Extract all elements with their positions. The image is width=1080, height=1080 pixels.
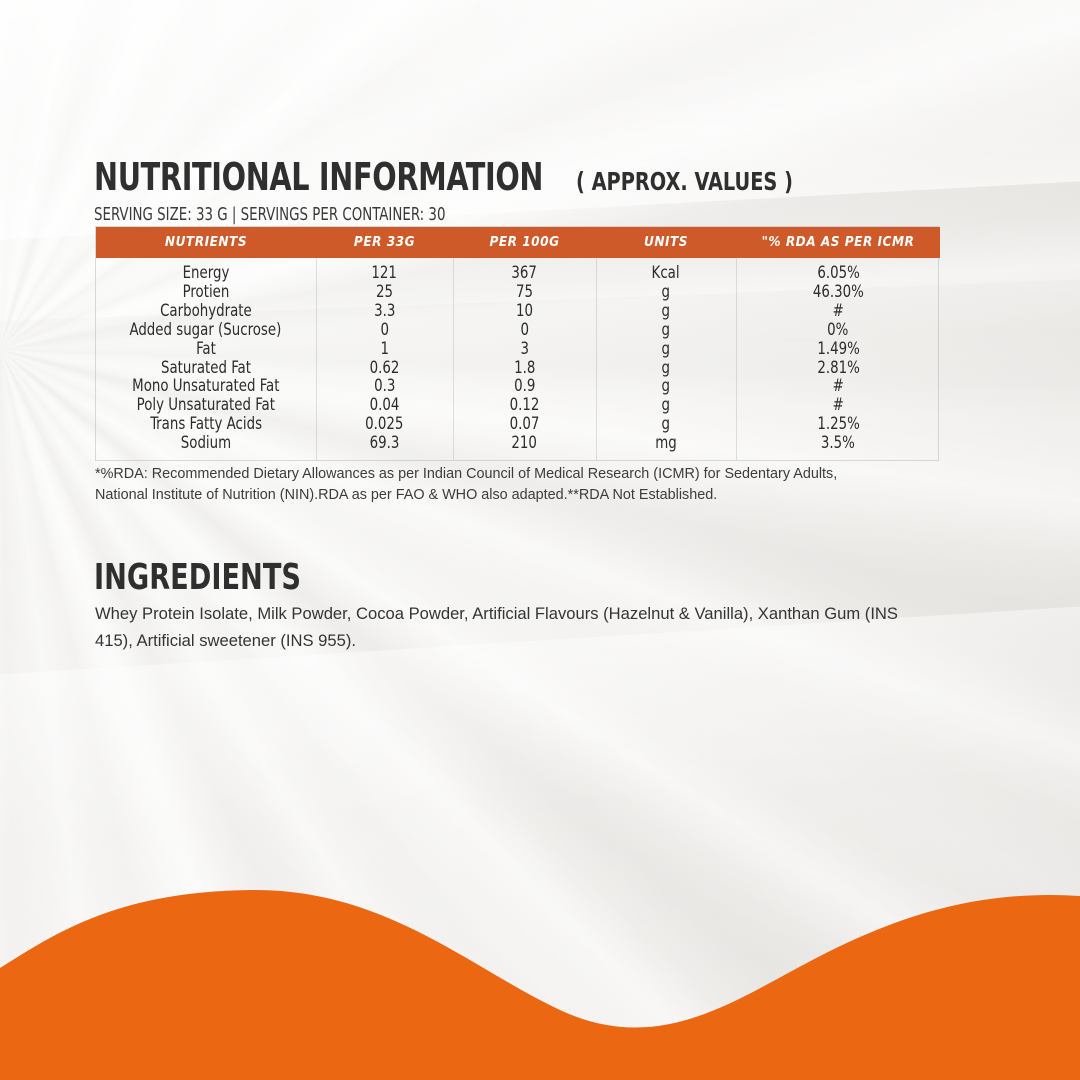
- cell-per-33g: 0.04: [316, 396, 453, 415]
- table-row: Fat13g1.49%: [96, 340, 940, 359]
- table-row: Poly Unsaturated Fat0.040.12g#: [96, 396, 940, 415]
- cell-nutrient: Sodium: [96, 434, 316, 460]
- table-row: Energy121367Kcal6.05%: [96, 258, 940, 283]
- cell-per-33g: 1: [316, 340, 453, 359]
- nutrition-table-container: NUTRIENTS PER 33G PER 100G UNITS "% RDA …: [95, 226, 939, 461]
- cell-rda: 0%: [736, 321, 940, 340]
- cell-units: g: [596, 302, 736, 321]
- cell-rda: #: [736, 377, 940, 396]
- table-header-row: NUTRIENTS PER 33G PER 100G UNITS "% RDA …: [96, 227, 940, 258]
- cell-per-100g: 0.07: [453, 415, 596, 434]
- cell-units: g: [596, 340, 736, 359]
- rda-footnote-line-2: National Institute of Nutrition (NIN).RD…: [95, 485, 935, 506]
- serving-size-line: SERVING SIZE: 33 G | SERVINGS PER CONTAI…: [94, 205, 859, 225]
- rda-footnote: *%RDA: Recommended Dietary Allowances as…: [95, 464, 935, 506]
- table-row: Mono Unsaturated Fat0.30.9g#: [96, 377, 940, 396]
- nutrition-title-row: NUTRITIONAL INFORMATION ( APPROX. VALUES…: [94, 158, 994, 196]
- cell-nutrient: Carbohydrate: [96, 302, 316, 321]
- nutrition-label-page: NUTRITIONAL INFORMATION ( APPROX. VALUES…: [0, 0, 1080, 1080]
- table-row: Added sugar (Sucrose)00g0%: [96, 321, 940, 340]
- cell-rda: 1.25%: [736, 415, 940, 434]
- column-header-units: UNITS: [596, 227, 736, 258]
- nutrition-table-body: Energy121367Kcal6.05%Protien2575g46.30%C…: [96, 258, 940, 460]
- cell-nutrient: Added sugar (Sucrose): [96, 321, 316, 340]
- column-header-per-100g: PER 100G: [453, 227, 596, 258]
- column-header-nutrients: NUTRIENTS: [96, 227, 316, 258]
- cell-nutrient: Saturated Fat: [96, 359, 316, 378]
- cell-per-100g: 1.8: [453, 359, 596, 378]
- ingredients-text: Whey Protein Isolate, Milk Powder, Cocoa…: [95, 600, 910, 654]
- cell-per-33g: 0.62: [316, 359, 453, 378]
- cell-per-33g: 0.3: [316, 377, 453, 396]
- cell-rda: 3.5%: [736, 434, 940, 460]
- cell-units: g: [596, 359, 736, 378]
- cell-units: g: [596, 396, 736, 415]
- table-row: Protien2575g46.30%: [96, 283, 940, 302]
- cell-per-33g: 69.3: [316, 434, 453, 460]
- cell-per-100g: 3: [453, 340, 596, 359]
- nutrition-table-head: NUTRIENTS PER 33G PER 100G UNITS "% RDA …: [96, 227, 940, 258]
- cell-per-100g: 210: [453, 434, 596, 460]
- cell-nutrient: Protien: [96, 283, 316, 302]
- page-title-approx-note: ( APPROX. VALUES ): [576, 169, 793, 194]
- cell-rda: 1.49%: [736, 340, 940, 359]
- nutrition-heading-block: NUTRITIONAL INFORMATION ( APPROX. VALUES…: [94, 158, 994, 225]
- label-content: NUTRITIONAL INFORMATION ( APPROX. VALUES…: [0, 0, 1080, 1080]
- table-row: Sodium69.3210mg3.5%: [96, 434, 940, 460]
- cell-per-100g: 367: [453, 258, 596, 283]
- cell-rda: 6.05%: [736, 258, 940, 283]
- cell-per-100g: 75: [453, 283, 596, 302]
- cell-rda: 46.30%: [736, 283, 940, 302]
- cell-per-100g: 10: [453, 302, 596, 321]
- cell-per-33g: 25: [316, 283, 453, 302]
- column-header-per-33g: PER 33G: [316, 227, 453, 258]
- table-row: Trans Fatty Acids0.0250.07g1.25%: [96, 415, 940, 434]
- cell-per-33g: 0.025: [316, 415, 453, 434]
- cell-per-33g: 121: [316, 258, 453, 283]
- ingredients-title: INGREDIENTS: [94, 560, 301, 596]
- cell-units: g: [596, 283, 736, 302]
- cell-per-33g: 0: [316, 321, 453, 340]
- cell-units: g: [596, 415, 736, 434]
- cell-nutrient: Trans Fatty Acids: [96, 415, 316, 434]
- page-title: NUTRITIONAL INFORMATION: [94, 158, 543, 196]
- table-row: Carbohydrate3.310g#: [96, 302, 940, 321]
- cell-units: Kcal: [596, 258, 736, 283]
- table-row: Saturated Fat0.621.8g2.81%: [96, 359, 940, 378]
- cell-rda: #: [736, 302, 940, 321]
- column-header-rda: "% RDA AS PER ICMR: [736, 227, 940, 258]
- cell-nutrient: Mono Unsaturated Fat: [96, 377, 316, 396]
- nutrition-table: NUTRIENTS PER 33G PER 100G UNITS "% RDA …: [96, 227, 940, 460]
- cell-units: g: [596, 377, 736, 396]
- cell-nutrient: Fat: [96, 340, 316, 359]
- cell-per-100g: 0.9: [453, 377, 596, 396]
- cell-rda: #: [736, 396, 940, 415]
- rda-footnote-line-1: *%RDA: Recommended Dietary Allowances as…: [95, 464, 935, 485]
- cell-units: mg: [596, 434, 736, 460]
- cell-units: g: [596, 321, 736, 340]
- cell-per-100g: 0.12: [453, 396, 596, 415]
- cell-per-33g: 3.3: [316, 302, 453, 321]
- cell-rda: 2.81%: [736, 359, 940, 378]
- cell-nutrient: Energy: [96, 258, 316, 283]
- cell-nutrient: Poly Unsaturated Fat: [96, 396, 316, 415]
- cell-per-100g: 0: [453, 321, 596, 340]
